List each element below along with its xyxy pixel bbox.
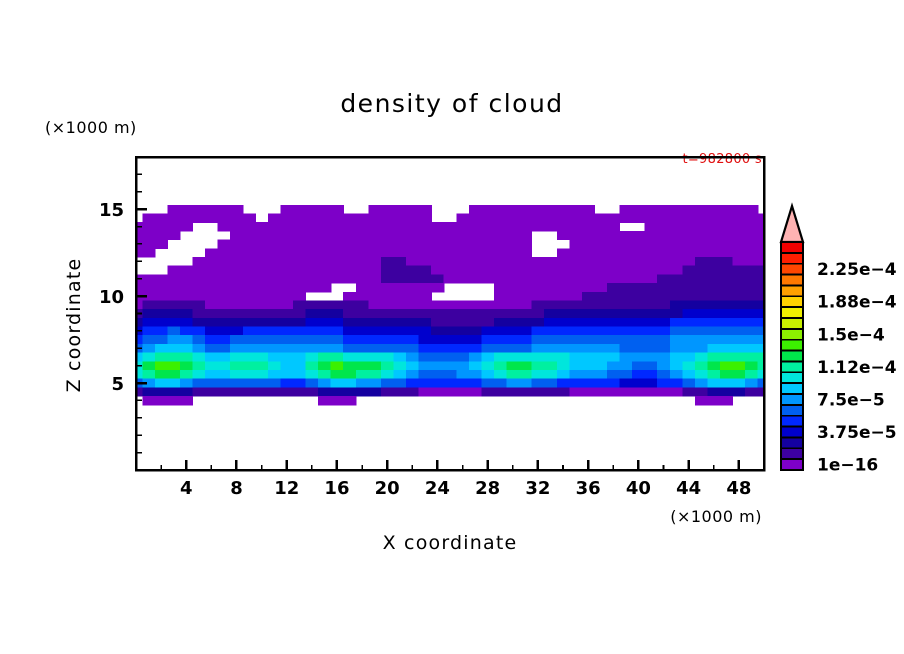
colorbar-tick-label: 2.25e−4 <box>817 260 897 280</box>
contour-figure: density of cloud (×1000 m) t=982800 s 48… <box>0 0 904 654</box>
x-tick-label: 8 <box>230 478 243 499</box>
colorbar-band[interactable] <box>781 448 803 459</box>
colorbar-band[interactable] <box>781 427 803 438</box>
x-tick-label: 48 <box>726 478 751 499</box>
x-tick-label: 36 <box>576 478 601 499</box>
colorbar-band[interactable] <box>781 361 803 372</box>
colorbar-band[interactable] <box>781 253 803 264</box>
colorbar-band[interactable] <box>781 351 803 362</box>
colorbar-band[interactable] <box>781 307 803 318</box>
colorbar-tick-label: 1e−16 <box>817 456 878 476</box>
x-tick-label: 16 <box>324 478 349 499</box>
y-axis-unit-label: (×1000 m) <box>45 118 137 137</box>
colorbar-band[interactable] <box>781 264 803 275</box>
colorbar-tick-label: 1.5e−4 <box>817 325 885 345</box>
x-tick-label: 4 <box>180 478 193 499</box>
x-axis-title: X coordinate <box>383 532 518 554</box>
x-tick-label: 20 <box>375 478 400 499</box>
colorbar-band[interactable] <box>781 275 803 286</box>
colorbar-tick-label: 7.5e−5 <box>817 390 885 410</box>
colorbar-tick-label: 3.75e−5 <box>817 423 897 443</box>
colorbar-tick-label: 1.88e−4 <box>817 293 897 313</box>
colorbar-band[interactable] <box>781 329 803 340</box>
y-tick-label: 5 <box>111 374 124 395</box>
y-tick-label: 10 <box>99 287 124 308</box>
timestamp-annotation: t=982800 s <box>682 152 762 167</box>
colorbar-band[interactable] <box>781 296 803 307</box>
x-tick-label: 24 <box>425 478 450 499</box>
colorbar-band[interactable] <box>781 405 803 416</box>
colorbar-band[interactable] <box>781 372 803 383</box>
colorbar-band[interactable] <box>781 340 803 351</box>
y-axis-title: Z coordinate <box>63 258 85 393</box>
x-tick-label: 32 <box>525 478 550 499</box>
x-tick-label: 12 <box>274 478 299 499</box>
y-tick-label: 15 <box>99 200 124 221</box>
colorbar-band[interactable] <box>781 437 803 448</box>
figure-canvas: density of cloud (×1000 m) t=982800 s 48… <box>0 0 904 654</box>
colorbar-band[interactable] <box>781 242 803 253</box>
x-tick-label: 40 <box>626 478 651 499</box>
colorbar-band[interactable] <box>781 394 803 405</box>
page-title: density of cloud <box>340 89 563 118</box>
colorbar-band[interactable] <box>781 318 803 329</box>
x-axis-unit-label: (×1000 m) <box>670 507 762 526</box>
x-tick-label: 44 <box>676 478 701 499</box>
colorbar-band[interactable] <box>781 416 803 427</box>
colorbar-tick-label: 1.12e−4 <box>817 358 897 378</box>
colorbar-band[interactable] <box>781 383 803 394</box>
colorbar-band[interactable] <box>781 285 803 296</box>
x-tick-label: 28 <box>475 478 500 499</box>
colorbar-band[interactable] <box>781 459 803 470</box>
